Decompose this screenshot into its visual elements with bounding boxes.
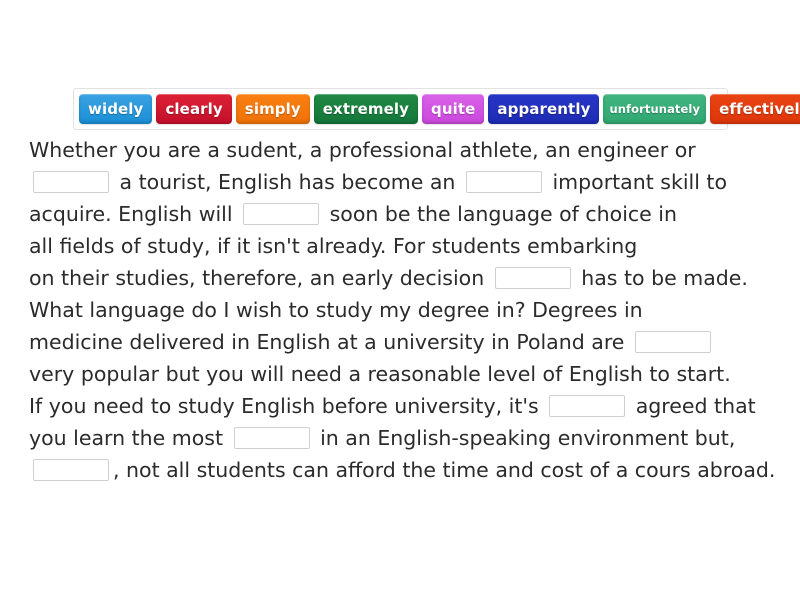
passage-text: What language do I wish to study my degr…	[29, 298, 649, 322]
answer-blank-3[interactable]	[243, 203, 319, 225]
answer-blank-2[interactable]	[466, 171, 542, 193]
passage-text: on their studies, therefore, an early de…	[29, 266, 491, 290]
passage-text: a tourist, English has become an	[113, 170, 462, 194]
passage-text: all fields of study, if it isn't already…	[29, 234, 644, 258]
passage-text: you learn the most	[29, 426, 230, 450]
word-tile-extremely[interactable]: extremely	[314, 94, 418, 124]
word-tile-quite[interactable]: quite	[422, 94, 484, 124]
passage-text: soon be the language of choice in	[323, 202, 683, 226]
answer-blank-7[interactable]	[234, 427, 310, 449]
passage-text: medicine delivered in English at a unive…	[29, 330, 631, 354]
fill-in-the-blanks-passage: Whether you are a sudent, a professional…	[29, 134, 777, 486]
passage-text: If you need to study English before univ…	[29, 394, 545, 418]
word-tile-simply[interactable]: simply	[236, 94, 310, 124]
answer-blank-1[interactable]	[33, 171, 109, 193]
word-tile-clearly[interactable]: clearly	[156, 94, 231, 124]
word-tile-unfortunately[interactable]: unfortunately	[603, 94, 706, 124]
passage-text: , not all students can afford the time a…	[113, 458, 775, 482]
passage-text: has to be made.	[575, 266, 755, 290]
passage-text: in an English-speaking environment but,	[314, 426, 742, 450]
passage-text: very popular but you will need a reasona…	[29, 362, 737, 386]
answer-blank-8[interactable]	[33, 459, 109, 481]
word-tile-apparently[interactable]: apparently	[488, 94, 599, 124]
answer-blank-4[interactable]	[495, 267, 571, 289]
answer-blank-5[interactable]	[635, 331, 711, 353]
passage-text: Whether you are a sudent, a professional…	[29, 138, 702, 162]
word-bank: widelyclearlysimplyextremelyquiteapparen…	[73, 88, 728, 130]
passage-text: important skill to	[546, 170, 734, 194]
word-tile-effectively[interactable]: effectively	[710, 94, 800, 124]
passage-text: agreed that	[629, 394, 762, 418]
answer-blank-6[interactable]	[549, 395, 625, 417]
passage-text: acquire. English will	[29, 202, 239, 226]
word-tile-widely[interactable]: widely	[79, 94, 152, 124]
